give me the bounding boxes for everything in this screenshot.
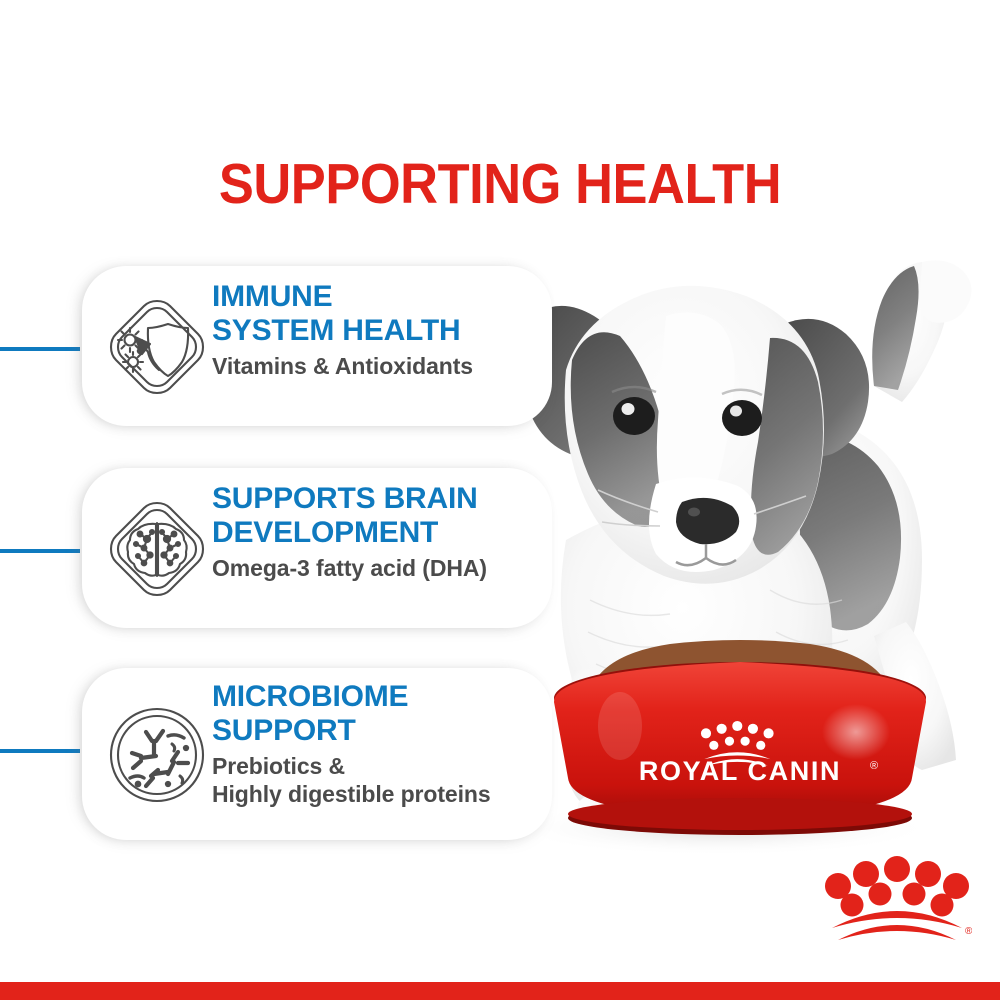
svg-text:ROYAL CANIN: ROYAL CANIN (639, 756, 841, 786)
feature-card-microbiome: MICROBIOME SUPPORT Prebiotics & Highly d… (82, 668, 552, 840)
feature-card-brain: SUPPORTS BRAIN DEVELOPMENT Omega-3 fatty… (82, 468, 552, 628)
bottom-red-bar (0, 982, 1000, 1000)
feature-text-immune: IMMUNE SYSTEM HEALTH Vitamins & Antioxid… (212, 280, 552, 380)
svg-text:®: ® (870, 760, 878, 772)
feature-title-immune: IMMUNE SYSTEM HEALTH (212, 280, 552, 348)
connector-line-brain (0, 549, 80, 553)
royal-canin-puppy-infographic: SUPPORTING HEALTH FOR YOUR PUPPY (0, 0, 1000, 1000)
royal-canin-crown-logo: ® (822, 856, 972, 942)
feature-text-brain: SUPPORTS BRAIN DEVELOPMENT Omega-3 fatty… (212, 482, 552, 582)
microbiome-icon (102, 700, 212, 810)
page-title-line-1: SUPPORTING HEALTH (40, 152, 960, 216)
feature-subtitle-brain: Omega-3 fatty acid (DHA) (212, 554, 552, 582)
feature-subtitle-microbiome: Prebiotics & Highly digestible proteins (212, 752, 552, 808)
brain-icon (102, 494, 212, 604)
feature-title-microbiome: MICROBIOME SUPPORT (212, 680, 552, 748)
feature-card-immune: IMMUNE SYSTEM HEALTH Vitamins & Antioxid… (82, 266, 552, 426)
connector-line-microbiome (0, 749, 80, 753)
connector-line-immune (0, 347, 80, 351)
feature-subtitle-immune: Vitamins & Antioxidants (212, 352, 552, 380)
feature-title-brain: SUPPORTS BRAIN DEVELOPMENT (212, 482, 552, 550)
registered-mark: ® (965, 926, 972, 937)
shield-immune-icon (102, 292, 212, 402)
feature-text-microbiome: MICROBIOME SUPPORT Prebiotics & Highly d… (212, 680, 552, 808)
